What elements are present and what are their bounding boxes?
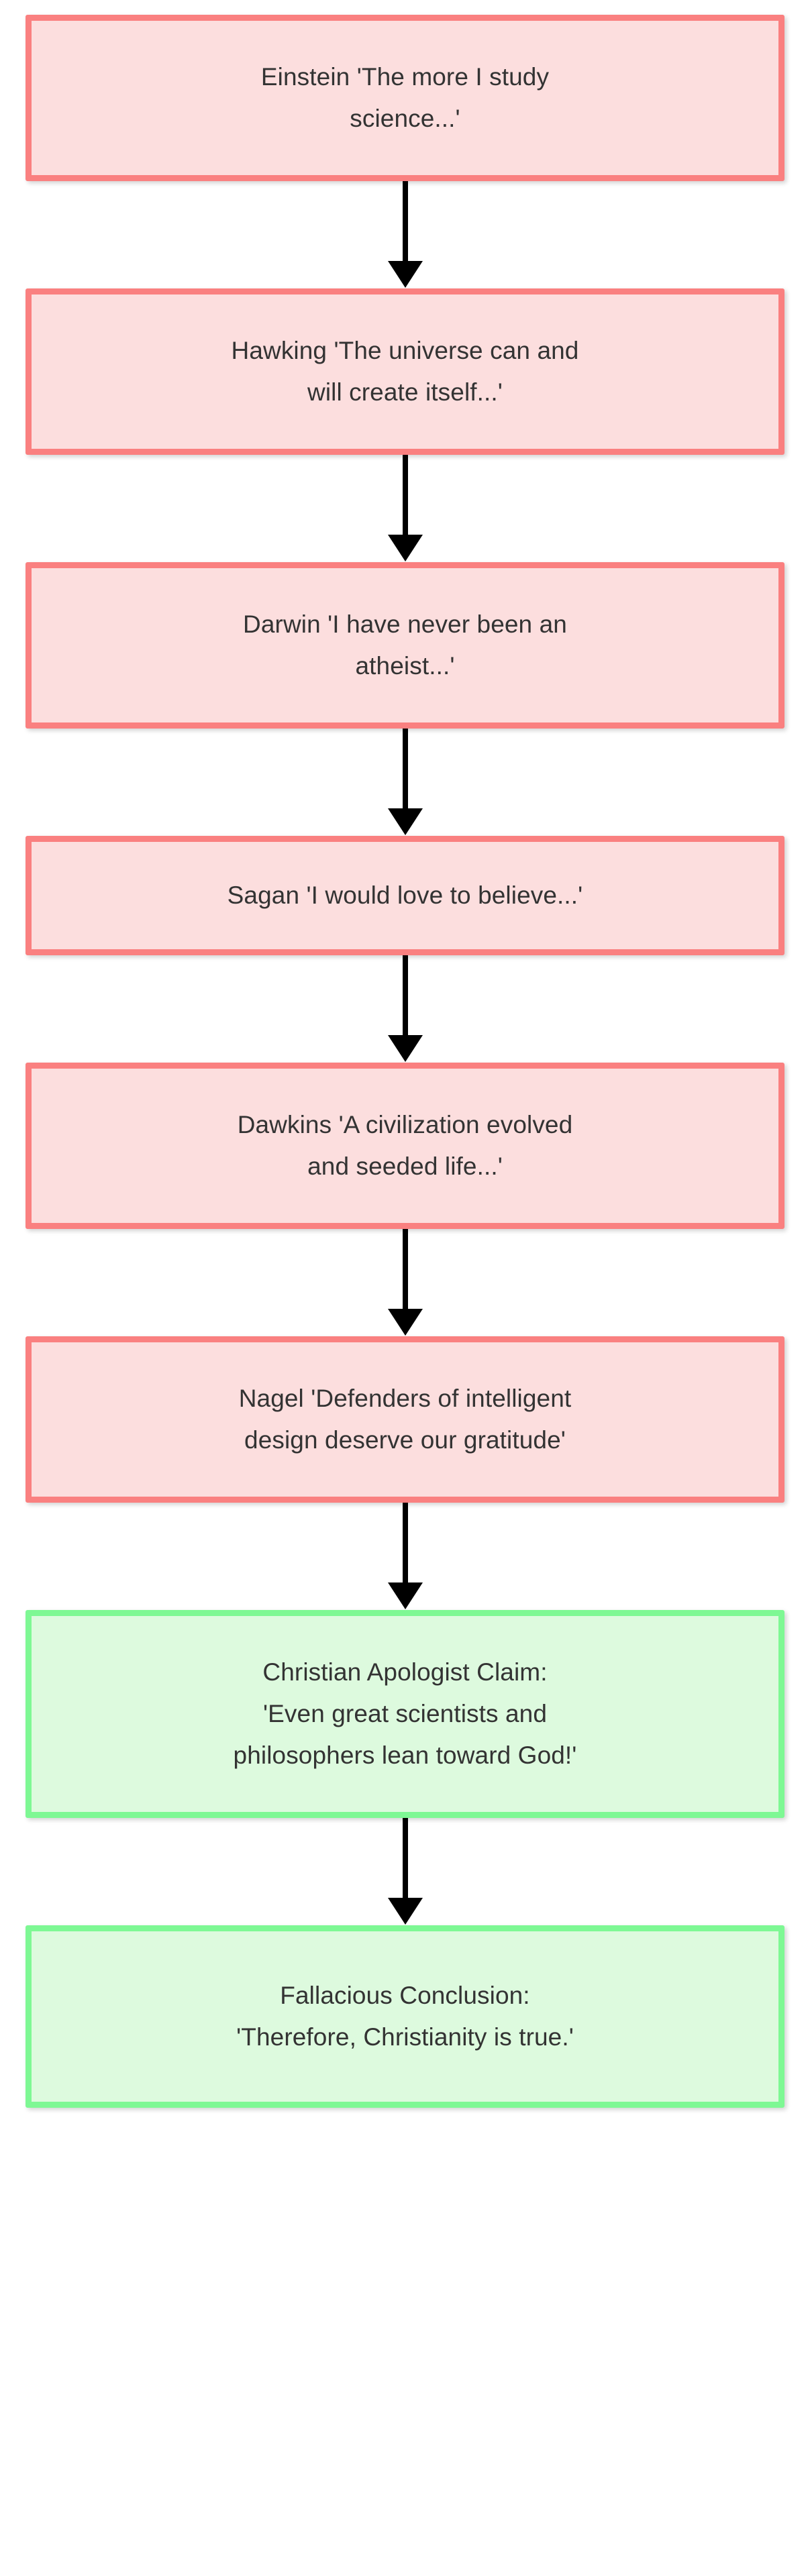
arrow-shaft xyxy=(403,1503,408,1583)
arrow-shaft xyxy=(403,1818,408,1898)
flow-node-nagel[interactable]: Nagel 'Defenders of intelligent design d… xyxy=(26,1336,784,1503)
arrow-shaft xyxy=(403,729,408,809)
arrow-shaft xyxy=(403,181,408,262)
flow-node-darwin[interactable]: Darwin 'I have never been an atheist...' xyxy=(26,562,784,729)
flow-node-label: Fallacious Conclusion: 'Therefore, Chris… xyxy=(219,1975,591,2058)
flow-node-label: Christian Apologist Claim: 'Even great s… xyxy=(216,1652,595,1776)
flow-edge-darwin-to-sagan xyxy=(392,729,419,836)
arrow-down-icon xyxy=(388,808,423,835)
flow-edge-dawkins-to-nagel xyxy=(392,1229,419,1336)
arrow-shaft xyxy=(403,955,408,1036)
flow-node-dawkins[interactable]: Dawkins 'A civilization evolved and seed… xyxy=(26,1063,784,1229)
arrow-shaft xyxy=(403,455,408,535)
flowchart-canvas: Einstein 'The more I study science...' H… xyxy=(0,0,810,2576)
arrow-down-icon xyxy=(388,1582,423,1609)
flow-node-label: Sagan 'I would love to believe...' xyxy=(210,875,601,916)
flow-node-label: Hawking 'The universe can and will creat… xyxy=(214,330,597,413)
flow-node-fallacious-conclusion[interactable]: Fallacious Conclusion: 'Therefore, Chris… xyxy=(26,1925,784,2108)
bottom-spacer xyxy=(405,2108,405,2135)
arrow-down-icon xyxy=(388,1898,423,1925)
flow-node-hawking[interactable]: Hawking 'The universe can and will creat… xyxy=(26,288,784,455)
flow-node-apologist-claim[interactable]: Christian Apologist Claim: 'Even great s… xyxy=(26,1610,784,1818)
flow-node-sagan[interactable]: Sagan 'I would love to believe...' xyxy=(26,836,784,955)
flow-node-label: Nagel 'Defenders of intelligent design d… xyxy=(221,1378,589,1461)
flow-edge-hawking-to-darwin xyxy=(392,455,419,562)
top-spacer xyxy=(405,0,405,15)
flow-node-label: Darwin 'I have never been an atheist...' xyxy=(225,604,585,687)
arrow-down-icon xyxy=(388,261,423,288)
arrow-shaft xyxy=(403,1229,408,1309)
flow-edge-sagan-to-dawkins xyxy=(392,955,419,1063)
flow-node-einstein[interactable]: Einstein 'The more I study science...' xyxy=(26,15,784,181)
flow-node-label: Dawkins 'A civilization evolved and seed… xyxy=(220,1104,591,1187)
flow-node-label: Einstein 'The more I study science...' xyxy=(244,56,566,140)
arrow-down-icon xyxy=(388,535,423,561)
flow-edge-nagel-to-apologist-claim xyxy=(392,1503,419,1610)
arrow-down-icon xyxy=(388,1309,423,1336)
flow-edge-einstein-to-hawking xyxy=(392,181,419,288)
arrow-down-icon xyxy=(388,1035,423,1062)
flow-edge-apologist-claim-to-conclusion xyxy=(392,1818,419,1925)
